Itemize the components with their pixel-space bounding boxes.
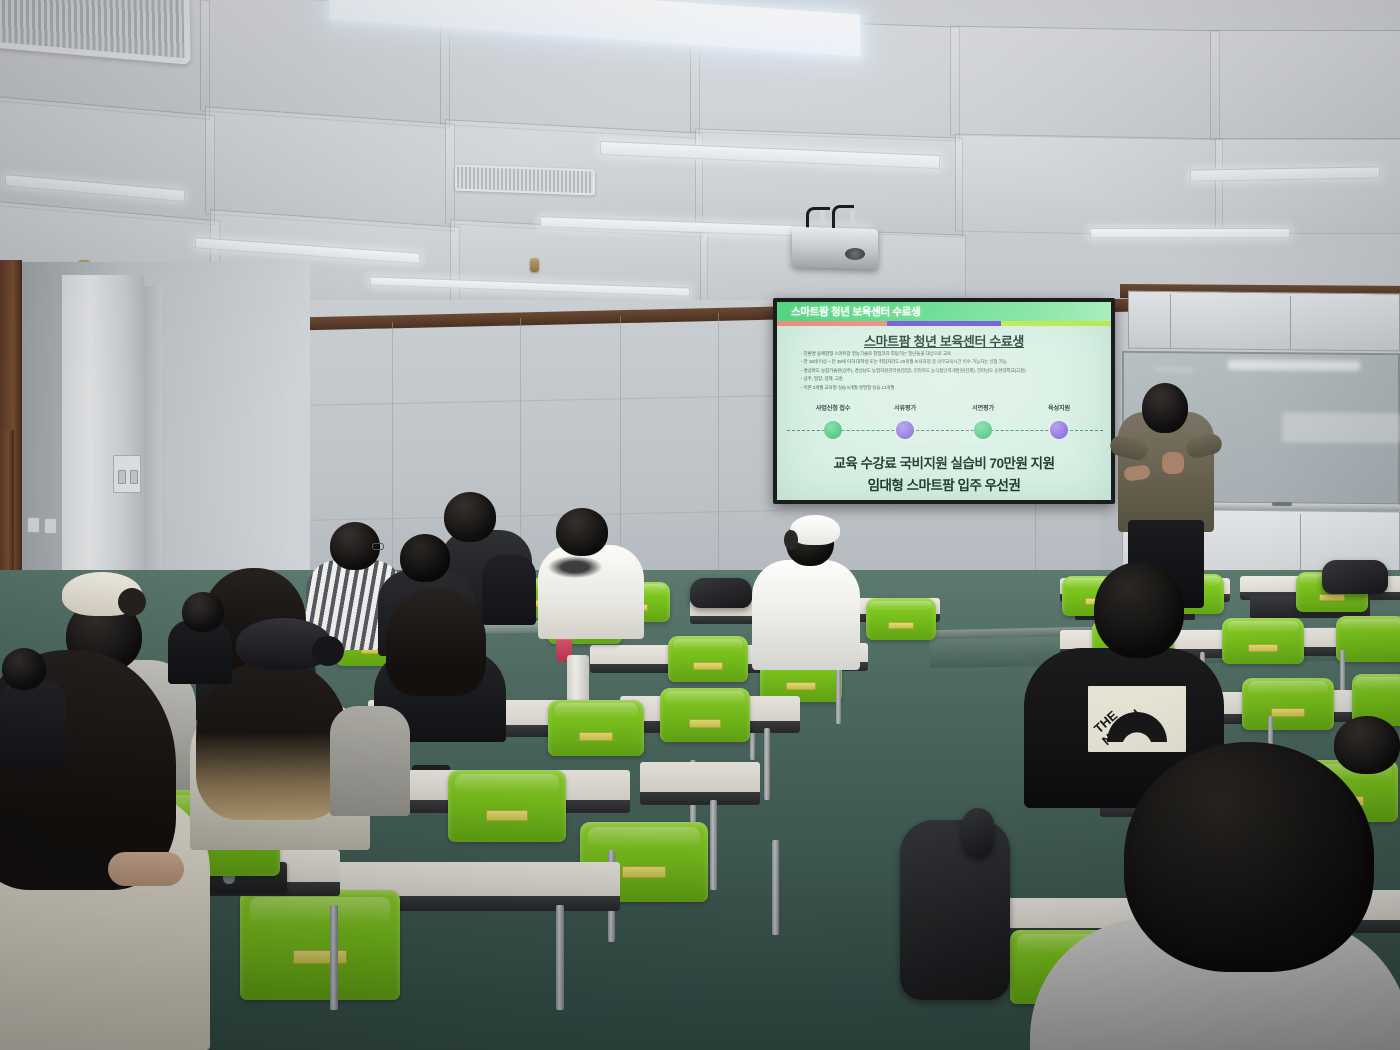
- colorbar-segment-lime: [1001, 321, 1111, 326]
- student-hair: [196, 660, 348, 820]
- wall-outlet-2[interactable]: [44, 518, 57, 534]
- chair-label: [1248, 644, 1278, 652]
- light-switch-2[interactable]: [130, 470, 138, 484]
- chair[interactable]: [1242, 678, 1334, 730]
- slide-title: 스마트팜 청년 보육센터 수료생: [777, 331, 1111, 350]
- glasses: [372, 543, 384, 550]
- chair-label: [579, 732, 613, 741]
- tshirt-graphic-print: [548, 556, 602, 578]
- chair[interactable]: [1336, 616, 1400, 662]
- chair-label: [888, 622, 914, 629]
- backpack-floor[interactable]: [900, 820, 1010, 1000]
- ceiling-light-8: [1090, 228, 1290, 238]
- student-torso: [752, 560, 860, 670]
- cap-brim: [312, 636, 344, 666]
- chair-label: [486, 810, 528, 821]
- slide-footer-line-1: 교육 수강료 국비지원 실습비 70만원 지원: [777, 452, 1111, 472]
- chair[interactable]: [240, 890, 400, 1000]
- chair[interactable]: [448, 770, 566, 842]
- presenter-hand-right: [1162, 452, 1184, 474]
- slide-bullet: 상주, 밀양, 김제, 고흥: [801, 377, 1091, 382]
- light-switch-1[interactable]: [118, 470, 126, 484]
- student-head: [182, 592, 224, 632]
- student-head: [1334, 716, 1400, 774]
- colorbar-segment-purple: [887, 321, 1001, 326]
- wall-outlet-1[interactable]: [27, 517, 40, 533]
- chair-label: [293, 950, 347, 964]
- classroom-photo: 스마트팜 청년 보육센터 수료생 스마트팜 청년 보육센터 수료생 친환경 융복…: [0, 0, 1400, 1050]
- slide-header-band: 스마트팜 청년 보육센터 수료생: [777, 302, 1111, 321]
- sprinkler-head-3: [530, 258, 539, 272]
- colorbar-segment-salmon: [777, 321, 887, 326]
- student-torso: [0, 680, 66, 770]
- slide-bullet: 만 18세 이상 ~ 만 39세 이하 대학생 또는 취업자라도 20개월 보육…: [801, 360, 1091, 365]
- chair-label: [1271, 708, 1305, 717]
- slide-bullet-list: 친환경 융복합형 스마트팜 영농기술로 창업코자 희망하는 청년들을 대상으로 …: [801, 352, 1091, 394]
- student-torso: [482, 555, 536, 625]
- chair[interactable]: [1222, 618, 1304, 664]
- slide-bullet: 친환경 융복합형 스마트팜 영농기술로 창업코자 희망하는 청년들을 대상으로 …: [801, 352, 1091, 357]
- student-head: [2, 648, 46, 690]
- student-head: [1094, 562, 1184, 658]
- light-switch-panel[interactable]: [113, 455, 141, 493]
- timeline-node-1: [824, 421, 842, 439]
- cap-strap: [784, 530, 798, 550]
- student-torso: [330, 706, 410, 816]
- backpack-strap: [962, 808, 994, 858]
- cap-brim: [118, 588, 146, 616]
- chair[interactable]: [660, 688, 750, 742]
- chair[interactable]: [866, 598, 936, 640]
- desk: [640, 762, 760, 802]
- ceiling: [0, 0, 1400, 300]
- chair-label: [622, 866, 666, 878]
- north-face-logo: THE NORTH: [1088, 686, 1186, 752]
- presentation-slide: 스마트팜 청년 보육센터 수료생 스마트팜 청년 보육센터 수료생 친환경 융복…: [777, 302, 1111, 500]
- timeline-node-4: [1050, 421, 1068, 439]
- timeline-node-2: [896, 421, 914, 439]
- student-head: [1124, 742, 1374, 972]
- slide-process-timeline: 사업신청 접수 서류평가 서면평가 육성지원: [787, 405, 1103, 445]
- presenter-head: [1142, 383, 1188, 433]
- north-face-dome-icon: THE NORTH: [1091, 688, 1183, 750]
- chair[interactable]: [668, 636, 748, 682]
- timeline-label: 서면평가: [972, 403, 994, 412]
- chair-label: [1319, 594, 1345, 601]
- timeline-node-3: [974, 421, 992, 439]
- chair-label: [786, 682, 816, 690]
- timeline-label: 서류평가: [894, 403, 916, 412]
- slide-footer-line-2: 임대형 스마트팜 입주 우선권: [777, 474, 1111, 494]
- chair[interactable]: [548, 700, 644, 756]
- projector-lens: [845, 248, 865, 260]
- chair-label: [689, 719, 721, 728]
- timeline-label: 육성지원: [1048, 403, 1070, 412]
- upper-cabinet[interactable]: [1128, 291, 1400, 352]
- chair-label: [693, 662, 723, 670]
- timeline-label: 사업신청 접수: [816, 403, 850, 412]
- projector: [792, 227, 878, 269]
- ceiling-vent: [455, 165, 595, 196]
- student-head: [444, 492, 496, 542]
- student-hand: [108, 852, 184, 886]
- student-hair: [386, 588, 486, 696]
- backpack[interactable]: [1322, 560, 1388, 594]
- whiteboard-marker[interactable]: [1272, 502, 1292, 506]
- student-head: [556, 508, 608, 556]
- slide-bullet: 경상북도 농업기술원(상주), 경상남도 농업자원관리원(밀양), 전라북도 농…: [801, 369, 1091, 374]
- slide-bullet: 이론 2개월 교육형 실습 6개월 경영형 실습 12개월: [801, 386, 1091, 391]
- backpack[interactable]: [690, 578, 752, 608]
- student-head: [400, 534, 450, 582]
- slide-header-label: 스마트팜 청년 보육센터 수료생: [791, 304, 921, 319]
- slide-colorbar: [777, 321, 1111, 326]
